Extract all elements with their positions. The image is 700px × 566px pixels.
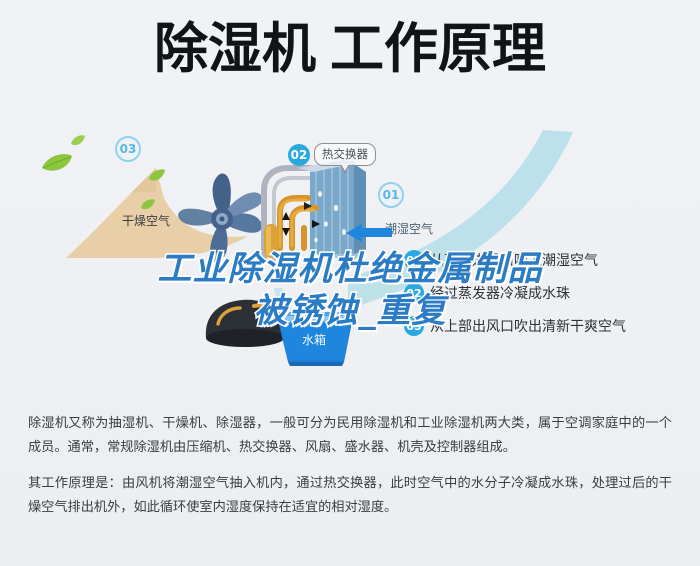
label-dry-air: 干燥空气 [122, 212, 170, 229]
badge-dry-air: 03 [115, 136, 141, 162]
leaf-icon-1 [40, 152, 74, 174]
title-part-1: 除湿机 [154, 17, 316, 80]
step-list: 01 从下部进风口吸入潮湿空气 02 经过蒸发器冷凝成水珠 03 从上部出风口吹… [404, 250, 694, 349]
list-item: 01 从下部进风口吸入潮湿空气 [404, 250, 694, 270]
leaf-icon-3 [148, 168, 166, 184]
body-copy: 除湿机又称为抽湿机、干燥机、除湿器，一般可分为民用除湿机和工业除湿机两大类，属于… [0, 412, 700, 520]
svg-text:水箱: 水箱 [302, 332, 326, 347]
list-item: 02 经过蒸发器冷凝成水珠 [404, 283, 694, 303]
label-heat-exchanger-text: 热交换器 [322, 147, 368, 161]
step-text-2: 经过蒸发器冷凝成水珠 [430, 283, 570, 303]
water-tank-icon: 水箱 [258, 288, 376, 373]
inflow-arrow-icon [344, 224, 394, 246]
bubble-tail [340, 165, 350, 174]
label-heat-exchanger: 热交换器 [314, 143, 376, 166]
title-part-2: 工作原理 [330, 17, 546, 80]
step-text-3: 从上部出风口吹出清新干爽空气 [430, 316, 626, 336]
heat-exchanger-assembly-icon [246, 150, 396, 295]
leaf-icon-2 [70, 134, 86, 148]
step-badge-2: 02 [404, 283, 424, 303]
paragraph-1: 除湿机又称为抽湿机、干燥机、除湿器，一般可分为民用除湿机和工业除湿机两大类，属于… [28, 412, 672, 460]
infographic-page: 除湿机工作原理 [0, 0, 700, 566]
leaf-icon-4 [140, 198, 156, 212]
step-text-1: 从下部进风口吸入潮湿空气 [430, 250, 598, 270]
badge-heat-exchanger: 02 [288, 144, 310, 166]
list-item: 03 从上部出风口吹出清新干爽空气 [404, 316, 694, 336]
step-badge-3: 03 [404, 316, 424, 336]
paragraph-2: 其工作原理是：由风机将潮湿空气抽入机内，通过热交换器，此时空气中的水分子冷凝成水… [28, 472, 672, 520]
step-badge-1: 01 [404, 250, 424, 270]
page-title: 除湿机工作原理 [0, 22, 700, 76]
badge-moist-air: 01 [378, 182, 404, 208]
